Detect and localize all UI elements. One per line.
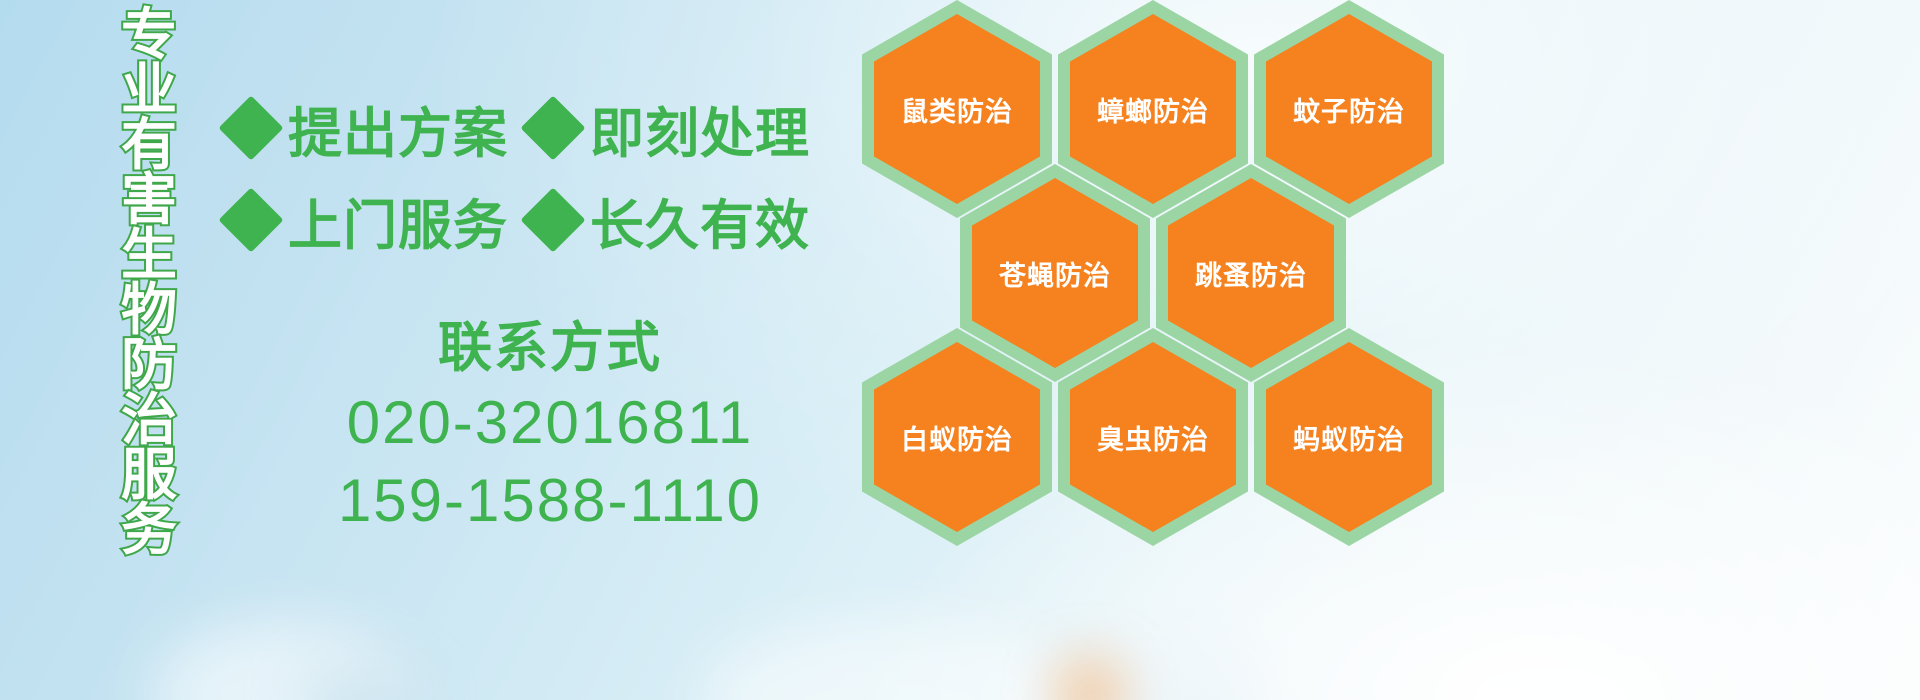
feature-item-propose-plan: 提出方案 [228,89,508,168]
service-hex-label: 跳蚤防治 [1195,254,1307,293]
service-hex-inner: 苍蝇防治 [972,178,1138,368]
background-bokeh-blob [150,620,410,700]
vertical-headline-char: 害 [121,173,177,228]
background-bokeh-blob [1060,650,1260,700]
diamond-icon [218,95,283,160]
vertical-headline-char: 防 [121,338,177,393]
service-hex-label: 蚂蚁防治 [1293,418,1405,457]
service-hex-label: 蟑螂防治 [1097,90,1209,129]
vertical-headline-char: 治 [121,393,177,448]
diamond-icon [520,95,585,160]
vertical-headline-char: 生 [121,228,177,283]
service-honeycomb: 鼠类防治 蟑螂防治 蚊子防治 苍蝇防治 跳蚤防治 白蚁防治 [862,0,1462,546]
service-hex-label: 苍蝇防治 [999,254,1111,293]
service-hex-inner: 鼠类防治 [874,14,1040,204]
feature-list: 提出方案 即刻处理 上门服务 长久有效 [228,82,868,266]
feature-label: 即刻处理 [590,89,810,168]
service-hex-label: 臭虫防治 [1097,418,1209,457]
service-hex-label: 鼠类防治 [901,90,1013,129]
background-bokeh-blob [1060,660,1120,700]
feature-label: 长久有效 [590,181,810,260]
vertical-headline-char: 业 [121,63,177,118]
background-bokeh-blob [700,620,1080,700]
pest-control-banner: 专 业 有 害 生 物 防 治 服 务 提出方案 即刻处理 上门服务 [0,0,1920,700]
vertical-headline-char: 专 [121,8,177,63]
background-bokeh-blob [1430,640,1670,700]
vertical-headline-char: 物 [121,283,177,338]
service-hex-inner: 臭虫防治 [1070,342,1236,532]
service-hex-label: 白蚁防治 [901,418,1013,457]
service-hex-label: 蚊子防治 [1293,90,1405,129]
service-hex-inner: 跳蚤防治 [1168,178,1334,368]
background-bokeh-blob [300,670,420,700]
contact-block: 联系方式 020-32016811 159-1588-1110 [290,312,810,540]
feature-item-immediate-handling: 即刻处理 [530,89,810,168]
service-hex-inner: 蟑螂防治 [1070,14,1236,204]
feature-label: 提出方案 [288,89,508,168]
service-hex-inner: 蚂蚁防治 [1266,342,1432,532]
feature-row: 上门服务 长久有效 [228,174,868,266]
vertical-headline-char: 有 [121,118,177,173]
feature-item-onsite-service: 上门服务 [228,181,508,260]
service-hex-inner: 蚊子防治 [1266,14,1432,204]
feature-row: 提出方案 即刻处理 [228,82,868,174]
feature-label: 上门服务 [288,181,508,260]
contact-phone-landline[interactable]: 020-32016811 [290,384,810,462]
vertical-headline-char: 务 [121,503,177,558]
diamond-icon [520,187,585,252]
feature-item-long-lasting: 长久有效 [530,181,810,260]
vertical-headline: 专 业 有 害 生 物 防 治 服 务 [104,8,194,568]
contact-phone-mobile[interactable]: 159-1588-1110 [290,462,810,540]
contact-heading: 联系方式 [290,312,810,384]
diamond-icon [218,187,283,252]
service-hex-inner: 白蚁防治 [874,342,1040,532]
vertical-headline-char: 服 [121,448,177,503]
